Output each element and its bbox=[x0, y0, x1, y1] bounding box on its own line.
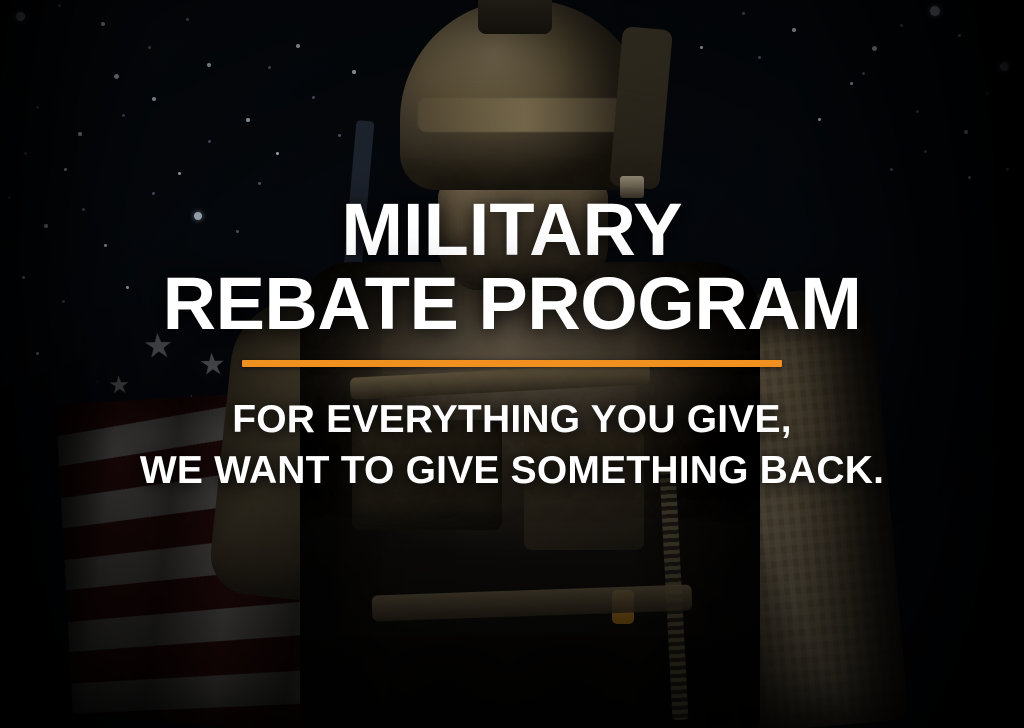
headline-line-1: MILITARY bbox=[163, 196, 862, 264]
military-rebate-banner: MILITARY REBATE PROGRAM FOR EVERYTHING Y… bbox=[0, 0, 1024, 728]
headline-line-2: REBATE PROGRAM bbox=[163, 270, 862, 338]
page-subtitle: FOR EVERYTHING YOU GIVE, WE WANT TO GIVE… bbox=[140, 395, 884, 496]
subheadline-line-2: WE WANT TO GIVE SOMETHING BACK. bbox=[140, 446, 884, 497]
page-title: MILITARY REBATE PROGRAM bbox=[163, 196, 862, 338]
orange-divider bbox=[242, 360, 782, 367]
subheadline-line-1: FOR EVERYTHING YOU GIVE, bbox=[140, 395, 884, 446]
banner-content: MILITARY REBATE PROGRAM FOR EVERYTHING Y… bbox=[0, 0, 1024, 728]
